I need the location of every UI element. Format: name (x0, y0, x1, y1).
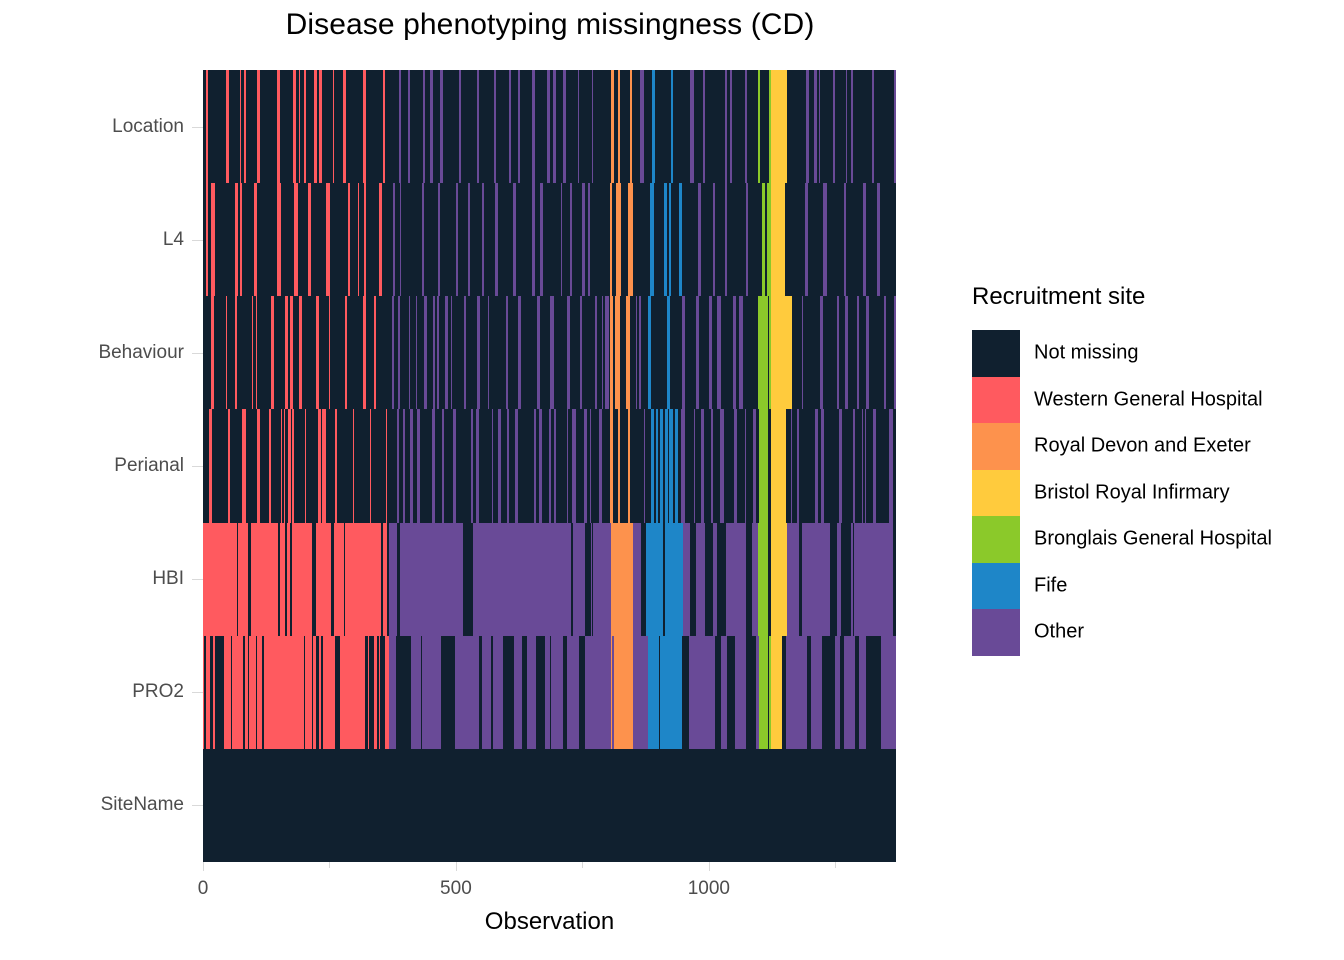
heatmap-cell (409, 296, 410, 409)
heatmap-line-fife-b (656, 409, 658, 748)
heatmap-cell (725, 70, 727, 183)
heatmap-cell (397, 409, 399, 522)
heatmap-row-perianal (203, 409, 896, 522)
heatmap-cell (885, 636, 892, 749)
heatmap-cell (791, 409, 792, 522)
heatmap-cell (509, 70, 511, 183)
heatmap-cell (389, 523, 397, 636)
heatmap-cell (495, 183, 498, 296)
heatmap-cell (889, 409, 892, 522)
heatmap-cell (567, 296, 571, 409)
heatmap-cell (375, 636, 377, 749)
heatmap-cell (644, 409, 645, 522)
heatmap-cell (442, 409, 444, 522)
legend-label: Western General Hospital (1034, 388, 1263, 411)
heatmap-row-hbi (203, 523, 896, 636)
legend-swatch-icon (972, 377, 1020, 424)
heatmap-cell (863, 183, 866, 296)
heatmap-cell (247, 523, 248, 636)
heatmap-cell (468, 183, 470, 296)
heatmap-cell (363, 296, 365, 409)
heatmap-cell (592, 636, 600, 749)
heatmap-cell (816, 636, 822, 749)
heatmap-cell (257, 70, 260, 183)
heatmap-cell (814, 70, 817, 183)
heatmap-cell (257, 409, 260, 522)
heatmap-cell (471, 636, 478, 749)
heatmap-cell (532, 183, 535, 296)
heatmap-cell (584, 409, 587, 522)
heatmap-cell (580, 296, 582, 409)
heatmap-cell (888, 523, 893, 636)
heatmap-cell (851, 523, 853, 636)
heatmap-cell (329, 523, 331, 636)
heatmap-cell (206, 70, 208, 183)
heatmap-cell (819, 70, 820, 183)
y-tick-label-location: Location (112, 116, 184, 138)
heatmap-cell (733, 296, 736, 409)
y-tick-label-pro2: PRO2 (132, 681, 184, 703)
heatmap-cell (703, 70, 706, 183)
heatmap-cell (739, 636, 746, 749)
heatmap-cell (545, 523, 552, 636)
legend-label: Other (1034, 621, 1084, 644)
heatmap-cell (866, 296, 869, 409)
heatmap-row-l4 (203, 183, 896, 296)
page-title: Disease phenotyping missingness (CD) (0, 8, 1100, 42)
heatmap-cell (211, 183, 214, 296)
x-tick-label: 1000 (688, 878, 730, 900)
legend-label: Royal Devon and Exeter (1034, 435, 1251, 458)
heatmap-cell (348, 183, 350, 296)
heatmap-cell (708, 636, 715, 749)
heatmap-cell (302, 636, 304, 749)
heatmap-cell (256, 296, 257, 409)
heatmap-cell (326, 183, 329, 296)
heatmap-cell (478, 523, 485, 636)
heatmap-cell (436, 636, 441, 749)
heatmap-cell (567, 409, 568, 522)
heatmap-cell (254, 183, 257, 296)
heatmap-cell (424, 296, 427, 409)
heatmap-cell (518, 296, 521, 409)
heatmap-cell (471, 409, 474, 522)
heatmap-line-royal-devon-b (618, 70, 620, 523)
heatmap-cell (299, 296, 302, 409)
legend-label: Bronglais General Hospital (1034, 528, 1272, 551)
heatmap-cell (260, 636, 263, 749)
heatmap-cell (595, 296, 597, 409)
heatmap-cell (786, 636, 793, 749)
heatmap-cell (671, 70, 674, 183)
heatmap-cell (530, 523, 537, 636)
heatmap-cell (852, 636, 854, 749)
heatmap-cell (461, 523, 463, 636)
heatmap-line-fife-c (660, 409, 663, 748)
y-tick-mark (192, 692, 203, 693)
heatmap-cell (318, 409, 321, 522)
heatmap-cell (859, 636, 866, 749)
x-tick-mark (709, 862, 710, 871)
heatmap-cell (851, 70, 853, 183)
legend-swatch-icon (972, 609, 1020, 656)
heatmap-block-separator (768, 296, 770, 749)
heatmap-cell (383, 523, 387, 636)
heatmap-cell (628, 183, 633, 296)
heatmap-cell (630, 70, 632, 183)
heatmap-cell (806, 70, 808, 183)
heatmap-cell (730, 70, 733, 183)
heatmap-cell (679, 183, 682, 296)
heatmap-cell (872, 523, 879, 636)
heatmap-cell (648, 296, 651, 409)
heatmap-cell (820, 296, 823, 409)
heatmap-cell (235, 296, 237, 409)
heatmap-cell (486, 636, 491, 749)
heatmap-cell (745, 409, 746, 522)
heatmap-cell (713, 523, 717, 636)
heatmap-cell (582, 183, 584, 296)
heatmap-cell (343, 70, 346, 183)
heatmap-cell (506, 296, 509, 409)
heatmap-cell (592, 70, 593, 183)
legend-swatch-icon (972, 563, 1020, 610)
heatmap-cell (802, 296, 803, 409)
heatmap-cell (415, 636, 421, 749)
heatmap-cell (363, 636, 365, 749)
heatmap-cell (534, 409, 536, 522)
heatmap-cell (313, 636, 315, 749)
heatmap-cell (835, 636, 840, 749)
heatmap-cell (802, 523, 809, 636)
heatmap-cell (498, 409, 501, 522)
heatmap-cell (319, 70, 322, 183)
heatmap-cell (575, 636, 579, 749)
legend-swatch-icon (972, 470, 1020, 517)
legend-swatch-icon (972, 516, 1020, 563)
heatmap-cell (322, 409, 325, 522)
x-tick-label: 500 (440, 878, 472, 900)
heatmap-cell (884, 296, 886, 409)
heatmap-cell (309, 636, 311, 749)
heatmap-cell (700, 523, 706, 636)
heatmap-row-location (203, 70, 896, 183)
heatmap-cell (865, 409, 866, 522)
heatmap-cell (459, 70, 461, 183)
heatmap-cell (745, 70, 747, 183)
heatmap-cell (698, 183, 701, 296)
heatmap-cell (682, 296, 685, 409)
heatmap-cell (494, 70, 497, 183)
heatmap-row-pro2 (203, 636, 896, 749)
heatmap-cell (497, 636, 503, 749)
heatmap-cell (408, 70, 410, 183)
heatmap-cell (432, 523, 439, 636)
heatmap-cell (537, 296, 540, 409)
heatmap-cell (464, 296, 466, 409)
y-tick-label-perianal: Perianal (114, 455, 184, 477)
x-tick-mark-minor (582, 862, 583, 868)
heatmap-cell (507, 523, 514, 636)
heatmap-cell (283, 523, 285, 636)
heatmap-cell (894, 296, 896, 409)
heatmap-cell (746, 183, 748, 296)
heatmap-cell (567, 523, 571, 636)
heatmap-cell (226, 296, 227, 409)
heatmap-cell (781, 296, 793, 409)
heatmap-cell (368, 636, 369, 749)
heatmap-cell (846, 70, 847, 183)
heatmap-cell (802, 636, 807, 749)
heatmap-cell (294, 183, 297, 296)
heatmap-cell (694, 409, 695, 522)
heatmap-cell (711, 409, 713, 522)
heatmap-row-behaviour (203, 296, 896, 409)
heatmap-cell (821, 409, 825, 522)
heatmap-cell (853, 409, 855, 522)
heatmap-cell (252, 636, 256, 749)
heatmap-cell (335, 409, 336, 522)
heatmap-cell (514, 523, 521, 636)
heatmap-cell (445, 296, 448, 409)
y-tick-label-sitename: SiteName (101, 794, 184, 816)
heatmap-cell (681, 409, 684, 522)
heatmap-cell (720, 409, 723, 522)
heatmap-cell (292, 409, 294, 522)
heatmap-cell (438, 183, 440, 296)
heatmap-cell (488, 296, 490, 409)
heatmap-cell (667, 296, 670, 409)
heatmap-cell (845, 296, 849, 409)
heatmap-cell (299, 70, 300, 183)
heatmap-cell (696, 296, 699, 409)
heatmap-cell (379, 183, 382, 296)
heatmap-cell (578, 70, 580, 183)
y-tick-mark (192, 579, 203, 580)
legend-swatch-icon (972, 423, 1020, 470)
heatmap-block-bristol (771, 70, 782, 749)
heatmap-cell (837, 523, 841, 636)
heatmap-cell (572, 409, 576, 522)
heatmap-cell (235, 183, 238, 296)
heatmap-cell (400, 183, 401, 296)
heatmap-cell (281, 409, 282, 522)
legend-label: Not missing (1034, 342, 1138, 365)
heatmap-cell (877, 183, 880, 296)
heatmap-cell (370, 409, 372, 522)
heatmap-cell (345, 296, 347, 409)
heatmap-cell (518, 70, 521, 183)
legend-label: Bristol Royal Infirmary (1034, 481, 1230, 504)
heatmap-cell (245, 636, 248, 749)
heatmap-cell (240, 70, 241, 183)
y-tick-mark (192, 240, 203, 241)
legend-title: Recruitment site (972, 283, 1145, 311)
heatmap-cell (782, 70, 787, 183)
heatmap-cell (433, 296, 435, 409)
heatmap-cell (451, 296, 452, 409)
y-tick-label-l4: L4 (163, 229, 184, 251)
heatmap-cell (353, 409, 354, 522)
heatmap-cell (725, 183, 727, 296)
heatmap-cell (805, 183, 808, 296)
heatmap-cell (456, 183, 458, 296)
heatmap-cell (822, 523, 830, 636)
heatmap-cell (316, 296, 319, 409)
heatmap-cell (701, 636, 709, 749)
heatmap-cell (590, 409, 591, 522)
heatmap-cell (583, 523, 585, 636)
heatmap-cell (792, 523, 799, 636)
heatmap-cell (206, 636, 210, 749)
legend-label: Fife (1034, 574, 1067, 597)
heatmap-cell (639, 523, 641, 636)
heatmap-cell (482, 183, 484, 296)
heatmap-cell (709, 296, 712, 409)
heatmap-cell (713, 183, 714, 296)
heatmap-cell (389, 636, 397, 749)
heatmap-cell (269, 409, 271, 522)
heatmap-cell (639, 296, 641, 409)
x-axis-title: Observation (203, 908, 896, 936)
heatmap-cell (669, 183, 671, 296)
heatmap-cell (500, 523, 508, 636)
heatmap-cell (492, 409, 494, 522)
heatmap-cell (206, 183, 207, 296)
heatmap-cell (304, 70, 306, 183)
heatmap-cell (723, 636, 727, 749)
x-tick-mark (456, 862, 457, 871)
x-tick-mark-minor (329, 862, 330, 868)
heatmap-cell (252, 296, 253, 409)
heatmap-cell (379, 523, 381, 636)
heatmap-cell (602, 296, 604, 409)
heatmap-cell (626, 296, 629, 409)
heatmap-cell (244, 70, 246, 183)
heatmap-cell (717, 296, 721, 409)
heatmap-line-fife-e (670, 409, 674, 748)
x-tick-mark (203, 862, 204, 871)
heatmap-cell (567, 636, 574, 749)
heatmap-cell (277, 183, 280, 296)
heatmap-cell (213, 636, 215, 749)
y-tick-mark (192, 466, 203, 467)
heatmap-cell (640, 70, 643, 183)
heatmap-cell (815, 409, 817, 522)
heatmap-cell (417, 409, 421, 522)
heatmap-cell (226, 70, 229, 183)
heatmap-cell (398, 296, 400, 409)
heatmap-cell (422, 183, 424, 296)
heatmap-cell (308, 183, 311, 296)
heatmap-cell (228, 636, 231, 749)
heatmap-cell (513, 183, 516, 296)
heatmap-cell (556, 636, 563, 749)
heatmap-cell (873, 409, 876, 522)
heatmap-cell (242, 409, 246, 522)
heatmap-cell (554, 409, 556, 522)
heatmap-cell (552, 523, 559, 636)
heatmap-cell (288, 409, 291, 522)
heatmap-row-sitename (203, 749, 896, 862)
heatmap-cell (340, 523, 344, 636)
heatmap-cell (891, 636, 896, 749)
heatmap-cell (203, 636, 204, 749)
heatmap-cell (386, 409, 387, 522)
heatmap-cell (284, 409, 285, 522)
heatmap-cell (477, 70, 479, 183)
heatmap-line-royal-devon-a (611, 70, 613, 749)
heatmap-cell (358, 183, 360, 296)
heatmap-cell (287, 523, 290, 636)
heatmap-cell (570, 183, 572, 296)
heatmap-cell (588, 183, 591, 296)
heatmap-cell (439, 523, 446, 636)
heatmap-cell (563, 70, 566, 183)
heatmap-line-fife-d (665, 409, 668, 748)
heatmap-cell (753, 409, 757, 522)
heatmap-cell (290, 296, 292, 409)
heatmap-cell (514, 636, 522, 749)
heatmap-cell (240, 183, 242, 296)
heatmap-cell (379, 636, 380, 749)
y-tick-mark (192, 127, 203, 128)
heatmap-cell (310, 523, 312, 636)
heatmap-cell (364, 183, 366, 296)
heatmap-cell (515, 409, 518, 522)
heatmap-cell (734, 409, 737, 522)
heatmap-cell (739, 296, 743, 409)
heatmap-cell (277, 70, 280, 183)
heatmap-cell (305, 409, 306, 522)
heatmap-cell (550, 296, 553, 409)
heatmap-cell (209, 409, 212, 522)
heatmap-cell (738, 523, 745, 636)
heatmap-cell (423, 70, 425, 183)
heatmap-line-fife-a (651, 409, 654, 748)
heatmap-cell (545, 636, 549, 749)
heatmap-cell (240, 636, 242, 749)
heatmap-cell (664, 183, 667, 296)
heatmap-cell (393, 183, 395, 296)
y-tick-mark (192, 805, 203, 806)
chart-root: Disease phenotyping missingness (CD) Loc… (0, 0, 1344, 960)
heatmap-cell (333, 636, 335, 749)
heatmap-cell (678, 636, 682, 749)
heatmap-cell (833, 70, 834, 183)
heatmap-cell (839, 409, 842, 522)
heatmap-cell (392, 296, 395, 409)
heatmap-line-fife-f (675, 409, 677, 748)
heatmap-cell (862, 409, 863, 522)
heatmap-cell (837, 296, 839, 409)
x-tick-mark-minor (835, 862, 836, 868)
heatmap-cell (319, 636, 321, 749)
heatmap-cell (363, 70, 366, 183)
heatmap-cell (701, 409, 704, 522)
heatmap-cell (329, 296, 330, 409)
y-tick-mark (192, 353, 203, 354)
heatmap-block-royal-devon (614, 523, 629, 749)
heatmap-cell (533, 636, 537, 749)
heatmap-cell (476, 409, 480, 522)
y-tick-label-hbi: HBI (152, 568, 184, 590)
heatmap-cell (410, 409, 413, 522)
heatmap-cell (314, 70, 317, 183)
heatmap-cell (872, 70, 874, 183)
heatmap-cell (553, 70, 555, 183)
heatmap-cell (861, 523, 869, 636)
